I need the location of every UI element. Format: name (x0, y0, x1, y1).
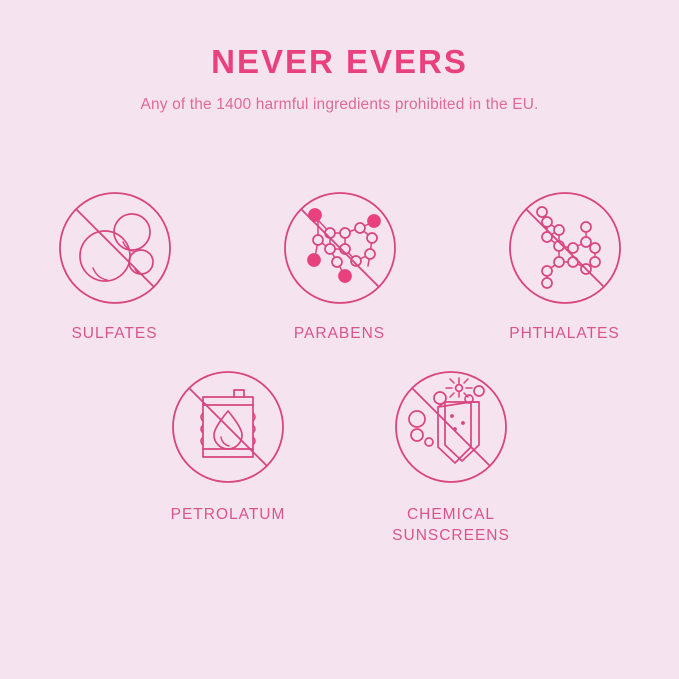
no-molecule-outline-icon (507, 190, 623, 306)
never-ever-label: SULFATES (71, 324, 157, 345)
never-evers-row-2: PETROLATUM (0, 369, 679, 547)
header: NEVER EVERS Any of the 1400 harmful ingr… (0, 0, 679, 115)
never-ever-label: PHTHALATES (509, 324, 620, 345)
no-molecule-filled-icon (282, 190, 398, 306)
never-ever-item-petrolatum: PETROLATUM (153, 369, 303, 526)
page-title: NEVER EVERS (0, 44, 679, 80)
never-evers-row-1: SULFATES (0, 190, 679, 345)
never-ever-item-sulfates: SULFATES (40, 190, 190, 345)
never-ever-item-sunscreens: CHEMICAL SUNSCREENS (376, 369, 526, 547)
no-sunscreen-bottle-icon (393, 369, 509, 485)
never-ever-label: PARABENS (294, 324, 385, 345)
never-ever-item-parabens: PARABENS (265, 190, 415, 345)
page-subtitle: Any of the 1400 harmful ingredients proh… (0, 96, 679, 115)
never-ever-label: CHEMICAL SUNSCREENS (392, 505, 510, 547)
no-bubbles-icon (57, 190, 173, 306)
never-evers-grid: SULFATES (0, 190, 679, 547)
never-ever-item-phthalates: PHTHALATES (490, 190, 640, 345)
never-ever-label: PETROLATUM (171, 505, 286, 526)
never-evers-panel: NEVER EVERS Any of the 1400 harmful ingr… (0, 0, 679, 679)
no-oil-barrel-icon (170, 369, 286, 485)
